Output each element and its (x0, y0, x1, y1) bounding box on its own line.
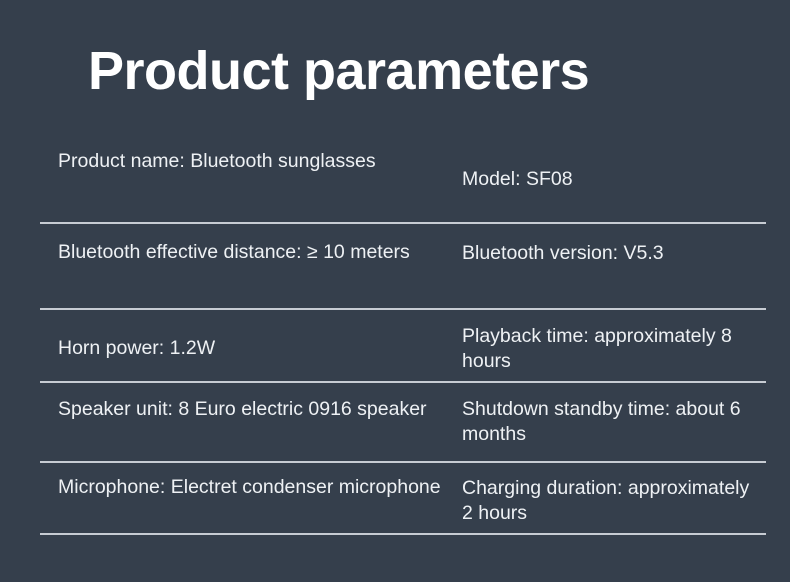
spec-cell-left: Bluetooth effective distance: ≥ 10 meter… (40, 224, 450, 265)
table-row: Speaker unit: 8 Euro electric 0916 speak… (40, 383, 766, 463)
spec-cell-right: Bluetooth version: V5.3 (450, 224, 766, 266)
spec-table: Product name: Bluetooth sunglasses Model… (40, 134, 766, 535)
page-title: Product parameters (88, 44, 589, 98)
spec-cell-right: Shutdown standby time: about 6 months (450, 383, 766, 447)
table-row: Bluetooth effective distance: ≥ 10 meter… (40, 224, 766, 310)
spec-cell-right: Charging duration: approximately 2 hours (450, 463, 766, 526)
spec-cell-right: Model: SF08 (450, 134, 766, 192)
spec-cell-left: Product name: Bluetooth sunglasses (40, 134, 450, 174)
table-row: Microphone: Electret condenser microphon… (40, 463, 766, 535)
spec-cell-left: Horn power: 1.2W (40, 310, 450, 361)
table-row: Product name: Bluetooth sunglasses Model… (40, 134, 766, 224)
spec-cell-left: Speaker unit: 8 Euro electric 0916 speak… (40, 383, 450, 422)
spec-cell-left: Microphone: Electret condenser microphon… (40, 463, 450, 500)
table-row: Horn power: 1.2W Playback time: approxim… (40, 310, 766, 383)
spec-cell-right: Playback time: approximately 8 hours (450, 310, 766, 374)
product-parameters-page: Product parameters Product name: Bluetoo… (0, 0, 790, 582)
